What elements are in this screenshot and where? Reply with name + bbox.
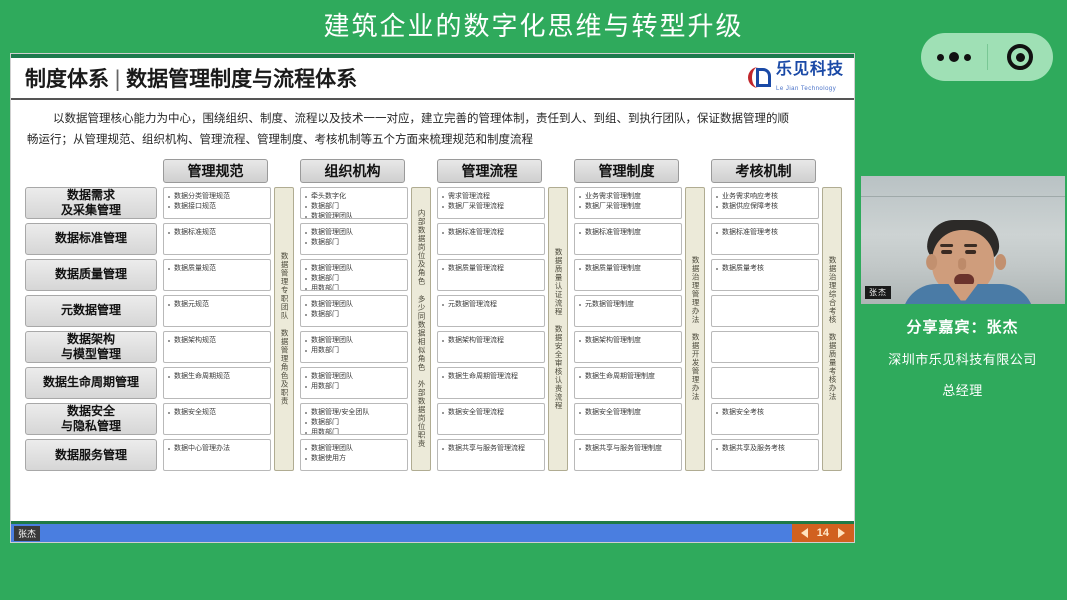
prev-slide-button[interactable]	[801, 528, 808, 538]
matrix-vertical-band-text: 多少同数据相似角色	[417, 295, 425, 372]
matrix-cell: 数据中心管理办法	[163, 439, 271, 471]
speaker-company-line: 深圳市乐见科技有限公司	[858, 349, 1067, 368]
matrix-cell-item: 用数部门	[305, 345, 403, 355]
matrix-column-group: 牵头数字化数据部门数据管理团队数据管理团队数据部门数据管理团队数据部门用数部门数…	[300, 187, 431, 472]
matrix-vertical-band-text: 数据管理专职团队	[280, 252, 288, 320]
logo-text: 乐见科技 Le Jian Technology	[776, 62, 844, 94]
matrix-column-header: 考核机制	[711, 159, 816, 183]
slide-title-sub: 数据管理制度与流程体系	[126, 67, 357, 91]
matrix-cell-item: 数据厂采管理制度	[579, 201, 677, 211]
right-panel: 张杰 分享嘉宾：张杰 深圳市乐见科技有限公司 总经理	[858, 0, 1067, 600]
matrix-cell-item: 用数部门	[305, 381, 403, 391]
speaker-info: 分享嘉宾：张杰 深圳市乐见科技有限公司 总经理	[858, 316, 1067, 399]
matrix-vertical-band-text: 数据安全审核认责流程	[554, 325, 562, 410]
matrix-cell: 数据管理团队数据部门	[300, 223, 408, 255]
matrix-header-gap	[685, 159, 705, 183]
matrix-cell: 数据安全规范	[163, 403, 271, 435]
matrix-column-cells: 数据分类管理规范数据接口规范数据标准规范数据质量规范数据元规范数据架构规范数据生…	[163, 187, 271, 472]
matrix-cell-item: 数据部门	[305, 273, 403, 283]
matrix-row-label: 数据服务管理	[25, 439, 157, 471]
presentation-bottom-bar: 张杰 14	[11, 524, 854, 542]
matrix-cell-item: 数据分类管理规范	[168, 191, 266, 201]
matrix-row-label: 数据生命周期管理	[25, 367, 157, 399]
matrix-cell: 数据共享与服务管理制度	[574, 439, 682, 471]
matrix-cell-item: 数据安全考核	[716, 407, 814, 417]
matrix-vertical-band: 数据治理管理办法数据开发管理办法	[685, 187, 705, 472]
matrix-column-cells: 业务需求管理制度数据厂采管理制度数据标准管理制度数据质量管理制度元数据管理制度数…	[574, 187, 682, 472]
matrix-cell-item: 数据管理团队	[305, 371, 403, 381]
matrix-header-gap	[822, 159, 842, 183]
matrix-cell-item: 业务需求响应考核	[716, 191, 814, 201]
matrix-cell-item: 用数部门	[305, 283, 403, 291]
matrix-cell: 数据安全管理流程	[437, 403, 545, 435]
matrix-header-gap	[411, 159, 431, 183]
matrix-cell-item: 数据架构管理流程	[442, 335, 540, 345]
matrix-vertical-band-text: 数据治理综合考核	[828, 256, 836, 324]
matrix-cell-item: 业务需求管理制度	[579, 191, 677, 201]
matrix-cell: 数据架构规范	[163, 331, 271, 363]
matrix-cell-item: 数据标准管理制度	[579, 227, 677, 237]
slide-header: 制度体系|数据管理制度与流程体系 乐见科技 Le Jian Technology	[11, 58, 854, 100]
matrix-cell-item: 数据架构规范	[168, 335, 266, 345]
matrix-row-label: 数据需求及采集管理	[25, 187, 157, 219]
matrix-cell-item: 数据部门	[305, 201, 403, 211]
matrix-column-group: 业务需求响应考核数据供应保障考核数据标准管理考核数据质量考核数据安全考核数据共享…	[711, 187, 842, 472]
matrix-cell	[711, 331, 819, 363]
matrix-column-group: 需求管理流程数据厂采管理流程数据标准管理流程数据质量管理流程元数据管理流程数据架…	[437, 187, 568, 472]
matrix-cell: 数据架构管理流程	[437, 331, 545, 363]
logo-mark-icon	[748, 66, 772, 90]
slide-pager: 14	[792, 524, 854, 542]
matrix-cell: 数据质量管理流程	[437, 259, 545, 291]
matrix-cell-item: 数据安全管理制度	[579, 407, 677, 417]
matrix-row-labels: 数据需求及采集管理数据标准管理数据质量管理元数据管理数据架构与模型管理数据生命周…	[25, 187, 157, 472]
matrix-cell: 需求管理流程数据厂采管理流程	[437, 187, 545, 219]
logo-name-en: Le Jian Technology	[776, 86, 836, 92]
slide-panel[interactable]: 制度体系|数据管理制度与流程体系 乐见科技 Le Jian Technology…	[10, 53, 855, 543]
matrix-cell: 数据标准规范	[163, 223, 271, 255]
matrix-column-header: 管理流程	[437, 159, 542, 183]
matrix-cell: 数据管理/安全团队数据部门用数部门	[300, 403, 408, 435]
matrix-cell: 数据元规范	[163, 295, 271, 327]
matrix-cell: 业务需求管理制度数据厂采管理制度	[574, 187, 682, 219]
matrix-column-group: 业务需求管理制度数据厂采管理制度数据标准管理制度数据质量管理制度元数据管理制度数…	[574, 187, 705, 472]
matrix-cell-item: 数据使用方	[305, 453, 403, 463]
matrix-cell: 数据管理团队数据部门用数部门	[300, 259, 408, 291]
matrix-cell: 数据分类管理规范数据接口规范	[163, 187, 271, 219]
matrix-cell-item: 数据安全规范	[168, 407, 266, 417]
matrix-cell	[711, 367, 819, 399]
matrix-cell-item: 数据生命周期规范	[168, 371, 266, 381]
matrix-cell-item: 元数据管理制度	[579, 299, 677, 309]
matrix-cell: 数据共享与服务管理流程	[437, 439, 545, 471]
matrix-cell-item: 数据元规范	[168, 299, 266, 309]
video-tile[interactable]: 张杰	[861, 176, 1065, 304]
matrix-cell-item: 数据质量管理流程	[442, 263, 540, 273]
matrix-cell: 业务需求响应考核数据供应保障考核	[711, 187, 819, 219]
slide-title-divider: |	[109, 67, 126, 91]
matrix-vertical-band-text: 数据质量认证流程	[554, 248, 562, 316]
matrix-cell-item: 数据管理团队	[305, 211, 403, 219]
matrix-vertical-band-text: 数据治理管理办法	[691, 256, 699, 324]
slide-paragraph-line2: 畅运行；从管理规范、组织机构、管理流程、管理制度、考核机制等五个方面来梳理规范和…	[27, 129, 838, 150]
matrix-cell: 元数据管理制度	[574, 295, 682, 327]
matrix-header-gap	[274, 159, 294, 183]
matrix-cell: 数据质量考核	[711, 259, 819, 291]
matrix-cell: 数据安全考核	[711, 403, 819, 435]
matrix-cell: 数据生命周期管理制度	[574, 367, 682, 399]
matrix-cell-item: 数据管理团队	[305, 443, 403, 453]
matrix-cell-item: 数据厂采管理流程	[442, 201, 540, 211]
matrix-column-header: 组织机构	[300, 159, 405, 183]
matrix-cell: 数据架构管理制度	[574, 331, 682, 363]
matrix-cell-item: 用数部门	[305, 427, 403, 435]
logo-name-cn: 乐见科技	[776, 61, 844, 78]
video-participant-avatar	[904, 220, 1032, 304]
matrix-cell-item: 数据接口规范	[168, 201, 266, 211]
slide-paragraph: 以数据管理核心能力为中心，围绕组织、制度、流程以及技术一一对应，建立完善的管理体…	[11, 100, 854, 155]
matrix-row-label: 数据架构与模型管理	[25, 331, 157, 363]
matrix-column-group: 数据分类管理规范数据接口规范数据标准规范数据质量规范数据元规范数据架构规范数据生…	[163, 187, 294, 472]
matrix-cell-item: 数据共享及服务考核	[716, 443, 814, 453]
presenter-name-tag: 张杰	[14, 526, 40, 541]
matrix-vertical-band-text: 外部数据岗位职责	[417, 380, 425, 448]
matrix-cell: 数据安全管理制度	[574, 403, 682, 435]
matrix-cell: 数据标准管理考核	[711, 223, 819, 255]
matrix-vertical-band: 数据治理综合考核数据质量考核办法	[822, 187, 842, 472]
matrix-cell-item: 数据管理团队	[305, 299, 403, 309]
matrix-cell-item: 牵头数字化	[305, 191, 403, 201]
matrix-body: 数据需求及采集管理数据标准管理数据质量管理元数据管理数据架构与模型管理数据生命周…	[25, 187, 842, 472]
matrix-vertical-band: 内部数据岗位及角色多少同数据相似角色外部数据岗位职责	[411, 187, 431, 472]
matrix-cell: 元数据管理流程	[437, 295, 545, 327]
speaker-guest-line: 分享嘉宾：张杰	[858, 316, 1067, 337]
matrix-vertical-band-text: 内部数据岗位及角色	[417, 209, 425, 286]
matrix-cell-item: 数据管理团队	[305, 263, 403, 273]
matrix-cell: 数据生命周期管理流程	[437, 367, 545, 399]
matrix-cell-item: 数据生命周期管理流程	[442, 371, 540, 381]
matrix-cell-item: 数据生命周期管理制度	[579, 371, 677, 381]
matrix-cell: 数据生命周期规范	[163, 367, 271, 399]
video-name-tag: 张杰	[865, 286, 891, 299]
matrix-row-label: 元数据管理	[25, 295, 157, 327]
matrix-cell	[711, 295, 819, 327]
matrix-cell-item: 数据部门	[305, 309, 403, 319]
matrix-cell: 数据标准管理制度	[574, 223, 682, 255]
matrix-vertical-band-text: 数据质量考核办法	[828, 333, 836, 401]
matrix-cell-item: 数据架构管理制度	[579, 335, 677, 345]
matrix-cell: 数据质量管理制度	[574, 259, 682, 291]
matrix-cell: 数据标准管理流程	[437, 223, 545, 255]
matrix-cell: 数据共享及服务考核	[711, 439, 819, 471]
app-stage: 建筑企业的数字化思维与转型升级 制度体系|数据管理制度与流程体系 乐见科技	[0, 0, 1067, 600]
matrix-cell-item: 数据标准管理考核	[716, 227, 814, 237]
matrix-column-cells: 业务需求响应考核数据供应保障考核数据标准管理考核数据质量考核数据安全考核数据共享…	[711, 187, 819, 472]
matrix-column-header: 管理规范	[163, 159, 268, 183]
matrix-cell-item: 数据共享与服务管理流程	[442, 443, 540, 453]
matrix-cell-item: 数据中心管理办法	[168, 443, 266, 453]
matrix-cell-item: 需求管理流程	[442, 191, 540, 201]
matrix-cell: 数据管理团队用数部门	[300, 367, 408, 399]
matrix-cell-item: 数据标准管理流程	[442, 227, 540, 237]
matrix-cell-item: 数据供应保障考核	[716, 201, 814, 211]
matrix-cell-item: 数据共享与服务管理制度	[579, 443, 677, 453]
matrix-header-row: 管理规范组织机构管理流程管理制度考核机制	[25, 159, 842, 183]
slide-title: 制度体系|数据管理制度与流程体系	[25, 63, 357, 93]
matrix-cell-item: 数据部门	[305, 417, 403, 427]
matrix-column-cells: 牵头数字化数据部门数据管理团队数据管理团队数据部门数据管理团队数据部门用数部门数…	[300, 187, 408, 472]
page-number: 14	[817, 527, 829, 539]
matrix-corner	[25, 159, 157, 183]
matrix-row-label: 数据质量管理	[25, 259, 157, 291]
matrix-cell-item: 数据质量考核	[716, 263, 814, 273]
matrix-cell: 数据管理团队数据使用方	[300, 439, 408, 471]
matrix-row-label: 数据安全与隐私管理	[25, 403, 157, 435]
matrix-cell-item: 元数据管理流程	[442, 299, 540, 309]
matrix-vertical-band: 数据质量认证流程数据安全审核认责流程	[548, 187, 568, 472]
matrix-cell: 数据管理团队用数部门	[300, 331, 408, 363]
matrix-cell-item: 数据标准规范	[168, 227, 266, 237]
matrix-cell: 数据质量规范	[163, 259, 271, 291]
slide-title-main: 制度体系	[25, 67, 109, 91]
matrix-cell-item: 数据管理团队	[305, 227, 403, 237]
matrix-cell-item: 数据部门	[305, 237, 403, 247]
matrix-column-header: 管理制度	[574, 159, 679, 183]
matrix-cell-item: 数据管理团队	[305, 335, 403, 345]
matrix-cell-item: 数据质量管理制度	[579, 263, 677, 273]
matrix-vertical-band-text: 数据开发管理办法	[691, 333, 699, 401]
speaker-title-line: 总经理	[858, 380, 1067, 399]
matrix-cell-item: 数据质量规范	[168, 263, 266, 273]
matrix-header-gap	[548, 159, 568, 183]
matrix-row-label: 数据标准管理	[25, 223, 157, 255]
matrix-cell-item: 数据安全管理流程	[442, 407, 540, 417]
company-logo: 乐见科技 Le Jian Technology	[748, 62, 844, 94]
matrix-cell: 数据管理团队数据部门	[300, 295, 408, 327]
slide-paragraph-line1: 以数据管理核心能力为中心，围绕组织、制度、流程以及技术一一对应，建立完善的管理体…	[27, 108, 838, 129]
next-slide-button[interactable]	[838, 528, 845, 538]
matrix-column-cells: 需求管理流程数据厂采管理流程数据标准管理流程数据质量管理流程元数据管理流程数据架…	[437, 187, 545, 472]
matrix-cell-item: 数据管理/安全团队	[305, 407, 403, 417]
matrix-vertical-band-text: 数据管理角色及职责	[280, 329, 288, 406]
matrix-vertical-band: 数据管理专职团队数据管理角色及职责	[274, 187, 294, 472]
capability-matrix: 管理规范组织机构管理流程管理制度考核机制 数据需求及采集管理数据标准管理数据质量…	[11, 155, 854, 472]
matrix-cell: 牵头数字化数据部门数据管理团队	[300, 187, 408, 219]
